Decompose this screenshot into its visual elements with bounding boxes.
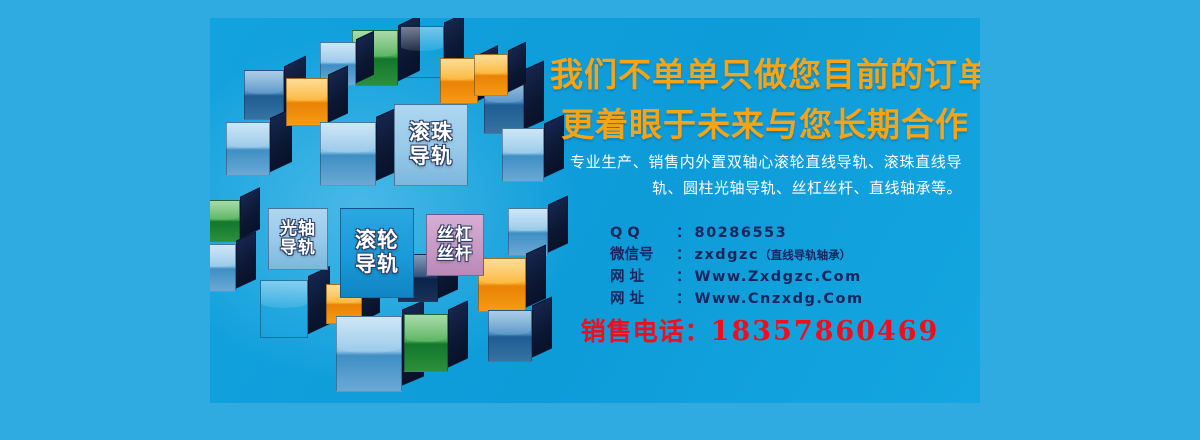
exploding-cubes-illustration: 滚珠 导轨 光轴 导轨 滚轮 导轨 丝杠 丝杆 (210, 18, 562, 403)
product-box-line-2: 导轨 (355, 253, 399, 277)
product-box-line-2: 丝杆 (437, 245, 473, 264)
contact-colon: ： (676, 288, 691, 310)
product-box-line-1: 丝杠 (437, 226, 473, 245)
product-box-gunzhu-daogui[interactable]: 滚珠 导轨 (394, 104, 468, 186)
contact-row-wechat: 微信号 ： zxdgzc （直线导轨轴承） (610, 244, 980, 266)
cube-decoration (474, 54, 508, 96)
contact-row-website-2: 网 址 ： Www.Cnzxdg.Com (610, 288, 980, 310)
cube-decoration (502, 128, 544, 182)
cube-decoration (260, 280, 308, 338)
cube-decoration (210, 200, 240, 242)
contact-info-block: Q Q ： 80286553 微信号 ： zxdgzc （直线导轨轴承） 网 址… (610, 222, 980, 310)
cube-decoration (244, 70, 284, 120)
product-box-line-1: 光轴 (280, 220, 316, 239)
intro-paragraph: 专业生产、销售内外置双轴心滚轮直线导轨、滚珠直线导轨、圆柱光轴导轨、丝杠丝杆、直… (570, 150, 962, 202)
product-box-guangzhou-daogui[interactable]: 光轴 导轨 (268, 208, 328, 270)
contact-value-qq[interactable]: 80286553 (695, 222, 788, 244)
sales-phone[interactable]: 销售电话：18357860469 (550, 312, 970, 348)
promo-banner: 滚珠 导轨 光轴 导轨 滚轮 导轨 丝杠 丝杆 我们不单单只做您目前的订单 更着… (210, 18, 980, 403)
cube-decoration (400, 26, 444, 78)
contact-row-website-1: 网 址 ： Www.Zxdgzc.Com (610, 266, 980, 288)
contact-colon: ： (676, 222, 691, 244)
product-box-sigang-sigan[interactable]: 丝杠 丝杆 (426, 214, 484, 276)
contact-row-qq: Q Q ： 80286553 (610, 222, 980, 244)
contact-value-website-2[interactable]: Www.Cnzxdg.Com (695, 288, 864, 310)
banner-stage: 滚珠 导轨 光轴 导轨 滚轮 导轨 丝杠 丝杆 我们不单单只做您目前的订单 更着… (0, 0, 1200, 440)
product-box-line-1: 滚轮 (355, 229, 399, 253)
cube-decoration (478, 258, 526, 312)
cube-decoration (226, 122, 270, 176)
cube-decoration (488, 310, 532, 362)
contact-label-wechat: 微信号 (610, 244, 676, 266)
sales-phone-number[interactable]: 18357860469 (711, 316, 940, 347)
cube-decoration (336, 316, 402, 392)
cube-decoration (404, 314, 448, 372)
contact-label-website: 网 址 (610, 266, 676, 288)
banner-copy: 我们不单单只做您目前的订单 更着眼于未来与您长期合作 专业生产、销售内外置双轴心… (550, 18, 980, 403)
product-box-line-1: 滚珠 (409, 121, 453, 145)
contact-value-website-1[interactable]: Www.Zxdgzc.Com (695, 266, 862, 288)
contact-colon: ： (676, 244, 691, 266)
headline-line-2: 更着眼于未来与您长期合作 (550, 98, 980, 146)
headline-line-1: 我们不单单只做您目前的订单 (550, 48, 980, 96)
product-box-gunlun-daogui[interactable]: 滚轮 导轨 (340, 208, 414, 298)
cube-decoration (286, 78, 328, 126)
sales-phone-label: 销售电话： (581, 317, 711, 346)
contact-value-wechat[interactable]: zxdgzc (695, 244, 760, 266)
product-box-line-2: 导轨 (280, 239, 316, 258)
product-box-line-2: 导轨 (409, 145, 453, 169)
cube-decoration (210, 244, 236, 292)
contact-label-website: 网 址 (610, 288, 676, 310)
cube-decoration (320, 122, 376, 186)
cube-decoration (440, 58, 478, 104)
contact-label-qq: Q Q (610, 222, 676, 244)
contact-note-wechat: （直线导轨轴承） (759, 247, 851, 264)
contact-colon: ： (676, 266, 691, 288)
